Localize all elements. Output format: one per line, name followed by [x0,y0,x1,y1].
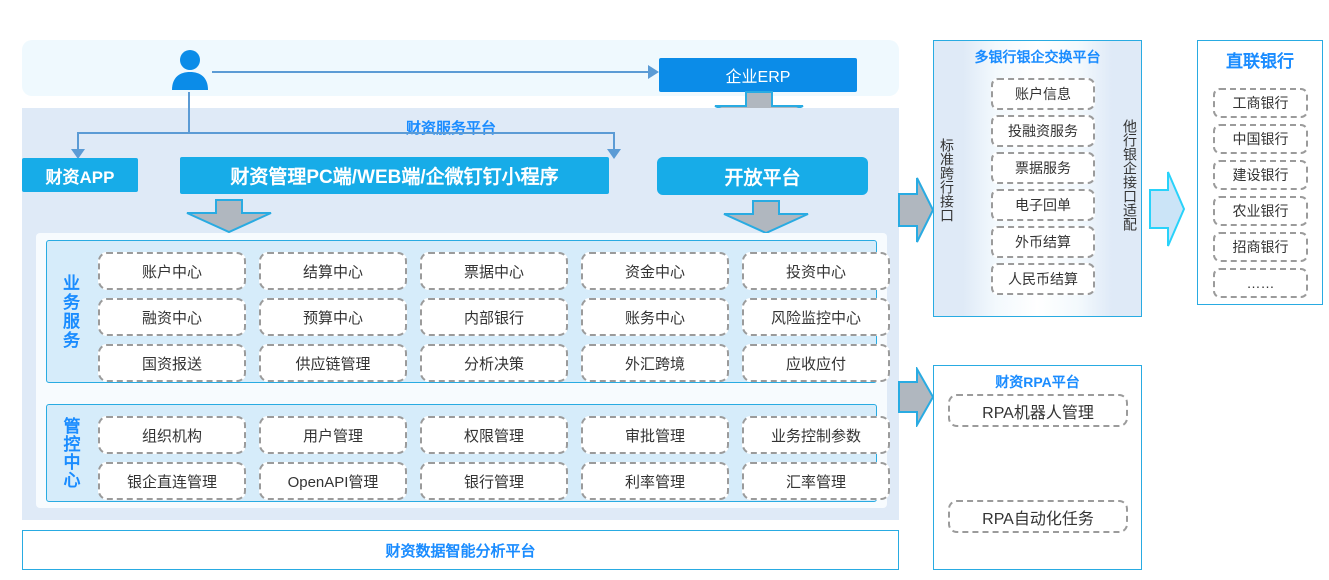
bank-item[interactable]: 建设银行 [1213,160,1308,190]
rpa-platform-title: 财资RPA平台 [933,371,1142,393]
connector-arrowhead-mid [607,149,621,159]
other-bank-interface-adapter-label: 他行银企接口适配 [1119,80,1141,270]
user-to-erp-arrowhead [648,65,659,79]
rpa-item-robot-management[interactable]: RPA机器人管理 [948,394,1128,427]
channel-finance-app[interactable]: 财资APP [22,158,138,192]
management-cell[interactable]: 利率管理 [581,462,729,500]
service-cell[interactable]: 风险监控中心 [742,298,890,336]
multi-bank-service-item[interactable]: 人民币结算 [991,263,1095,295]
direct-connect-bank-list: 工商银行 中国银行 建设银行 农业银行 招商银行 …… [1213,88,1308,298]
platform-title: 财资服务平台 [406,116,646,138]
service-cell[interactable]: 国资报送 [98,344,246,382]
management-center-grid: 组织机构 用户管理 权限管理 审批管理 业务控制参数 银企直连管理 OpenAP… [98,416,876,500]
service-cell[interactable]: 结算中心 [259,252,407,290]
management-cell[interactable]: 用户管理 [259,416,407,454]
channel-open-platform[interactable]: 开放平台 [657,157,868,195]
direct-connect-bank-title: 直联银行 [1197,47,1323,71]
multi-bank-service-list: 账户信息 投融资服务 票据服务 电子回单 外币结算 人民币结算 [991,78,1095,295]
enterprise-erp-box[interactable]: 企业ERP [659,58,857,92]
management-cell[interactable]: 权限管理 [420,416,568,454]
service-cell[interactable]: 资金中心 [581,252,729,290]
management-cell[interactable]: 业务控制参数 [742,416,890,454]
multi-bank-service-item[interactable]: 票据服务 [991,152,1095,184]
service-cell[interactable]: 账户中心 [98,252,246,290]
service-cell[interactable]: 投资中心 [742,252,890,290]
service-cell[interactable]: 供应链管理 [259,344,407,382]
bank-item-more[interactable]: …… [1213,268,1308,298]
management-cell[interactable]: 银企直连管理 [98,462,246,500]
connector-horizontal-main [77,132,614,134]
rpa-item-automation-task[interactable]: RPA自动化任务 [948,500,1128,533]
connector-vertical-mid [613,132,615,150]
bank-item[interactable]: 农业银行 [1213,196,1308,226]
channel-pc-web-miniprogram[interactable]: 财资管理PC端/WEB端/企微钉钉小程序 [180,157,609,194]
service-cell[interactable]: 应收应付 [742,344,890,382]
service-cell[interactable]: 融资中心 [98,298,246,336]
multi-bank-service-item[interactable]: 投融资服务 [991,115,1095,147]
data-analysis-platform-bar: 财资数据智能分析平台 [22,530,899,570]
connector-vertical-main [188,92,190,134]
platform-to-rpa-arrow-icon [897,367,935,427]
service-cell[interactable]: 票据中心 [420,252,568,290]
management-cell[interactable]: 银行管理 [420,462,568,500]
bank-item[interactable]: 中国银行 [1213,124,1308,154]
service-cell[interactable]: 预算中心 [259,298,407,336]
management-cell[interactable]: OpenAPI管理 [259,462,407,500]
management-center-label: 管控中心 [56,412,84,494]
service-cell[interactable]: 分析决策 [420,344,568,382]
user-icon [168,48,212,92]
management-cell[interactable]: 审批管理 [581,416,729,454]
pcweb-down-arrow-icon [185,198,273,234]
service-cell[interactable]: 内部银行 [420,298,568,336]
openplatform-down-arrow-icon [722,199,810,235]
connector-vertical-left [77,132,79,150]
management-cell[interactable]: 汇率管理 [742,462,890,500]
multi-bank-service-item[interactable]: 账户信息 [991,78,1095,110]
service-cell[interactable]: 外汇跨境 [581,344,729,382]
platform-to-multibank-arrow-icon [897,176,935,244]
architecture-diagram: 企业ERP 财资服务平台 财资APP 财资管理PC端/WEB端/企微钉钉小程序 … [0,0,1329,580]
user-to-erp-connector [212,71,652,73]
business-services-label: 业务服务 [54,252,84,372]
multi-bank-service-item[interactable]: 外币结算 [991,226,1095,258]
standard-cross-bank-interface-label: 标准跨行接口 [936,95,958,265]
service-cell[interactable]: 账务中心 [581,298,729,336]
multibank-to-directbank-arrow-icon [1148,170,1186,248]
multi-bank-exchange-title: 多银行银企交换平台 [933,46,1142,68]
bank-item[interactable]: 招商银行 [1213,232,1308,262]
business-services-grid: 账户中心 结算中心 票据中心 资金中心 投资中心 融资中心 预算中心 内部银行 … [98,252,876,382]
bank-item[interactable]: 工商银行 [1213,88,1308,118]
management-cell[interactable]: 组织机构 [98,416,246,454]
multi-bank-service-item[interactable]: 电子回单 [991,189,1095,221]
